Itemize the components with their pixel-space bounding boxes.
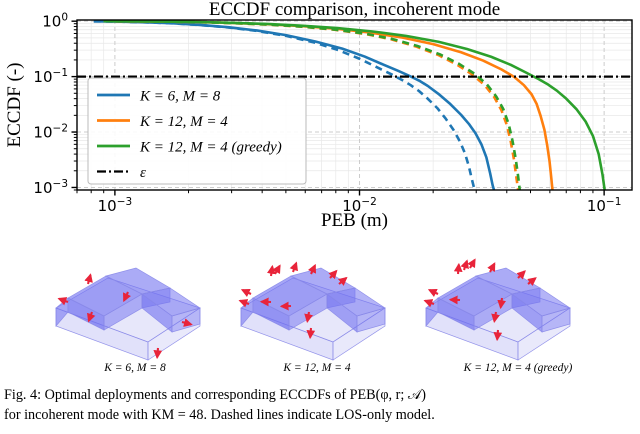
antenna-arrow-1 [464, 261, 467, 270]
deployment-diagrams [0, 240, 640, 380]
legend-label-2: K = 12, M = 4 (greedy) [139, 140, 282, 156]
antenna-arrow-11 [310, 328, 311, 337]
deployment-1 [56, 268, 200, 360]
antenna-arrow-2 [293, 263, 296, 272]
chart-canvas: 10−310−210−110010−110−210−3ECCDF compari… [0, 0, 640, 232]
antenna-arrow-3 [490, 264, 494, 272]
legend-label-0: K = 6, M = 8 [139, 89, 221, 105]
figure-caption: Fig. 4: Optimal deployments and correspo… [4, 386, 638, 425]
legend-label-1: K = 12, M = 4 [139, 114, 228, 130]
x-axis-label: PEB (m) [321, 210, 388, 231]
antenna-arrow-5 [157, 348, 158, 357]
antenna-arrow-0 [458, 265, 459, 274]
eccdf-chart: 10−310−210−110010−110−210−3ECCDF compari… [0, 0, 640, 232]
figure-caption-line-1: Fig. 4: Optimal deployments and correspo… [4, 386, 638, 406]
antenna-arrow-0 [88, 275, 90, 284]
deployment-caption-2: K = 12, M = 4 [232, 362, 402, 374]
tick-label: 10−3 [33, 178, 68, 197]
deployment-3 [425, 260, 570, 360]
antenna-arrow-6 [242, 290, 251, 294]
tick-label: 10−1 [587, 196, 622, 215]
antenna-arrow-6 [429, 290, 438, 294]
y-axis-label: ECCDF (-) [4, 63, 25, 148]
figure-caption-line-2: for incoherent mode with KM = 48. Dashed… [4, 406, 638, 426]
antenna-arrow-1 [275, 266, 280, 274]
chart-title: ECCDF comparison, incoherent mode [209, 0, 500, 20]
tick-label: 10−1 [33, 67, 68, 86]
tick-label: 100 [42, 12, 68, 31]
chart-legend: K = 6, M = 8K = 12, M = 4K = 12, M = 4 (… [88, 78, 306, 184]
tick-label: 10−3 [98, 196, 133, 215]
antenna-arrow-9 [501, 298, 502, 307]
deployment-2 [240, 263, 385, 360]
tick-label: 10−2 [33, 123, 68, 142]
antenna-arrow-2 [470, 260, 475, 268]
deployment-caption-1: K = 6, M = 8 [40, 362, 230, 374]
legend-label-3: ε [140, 165, 146, 181]
antenna-arrow-11 [497, 330, 498, 339]
deployment-caption-3: K = 12, M = 4 (greedy) [408, 362, 628, 374]
antenna-arrow-0 [271, 267, 272, 276]
